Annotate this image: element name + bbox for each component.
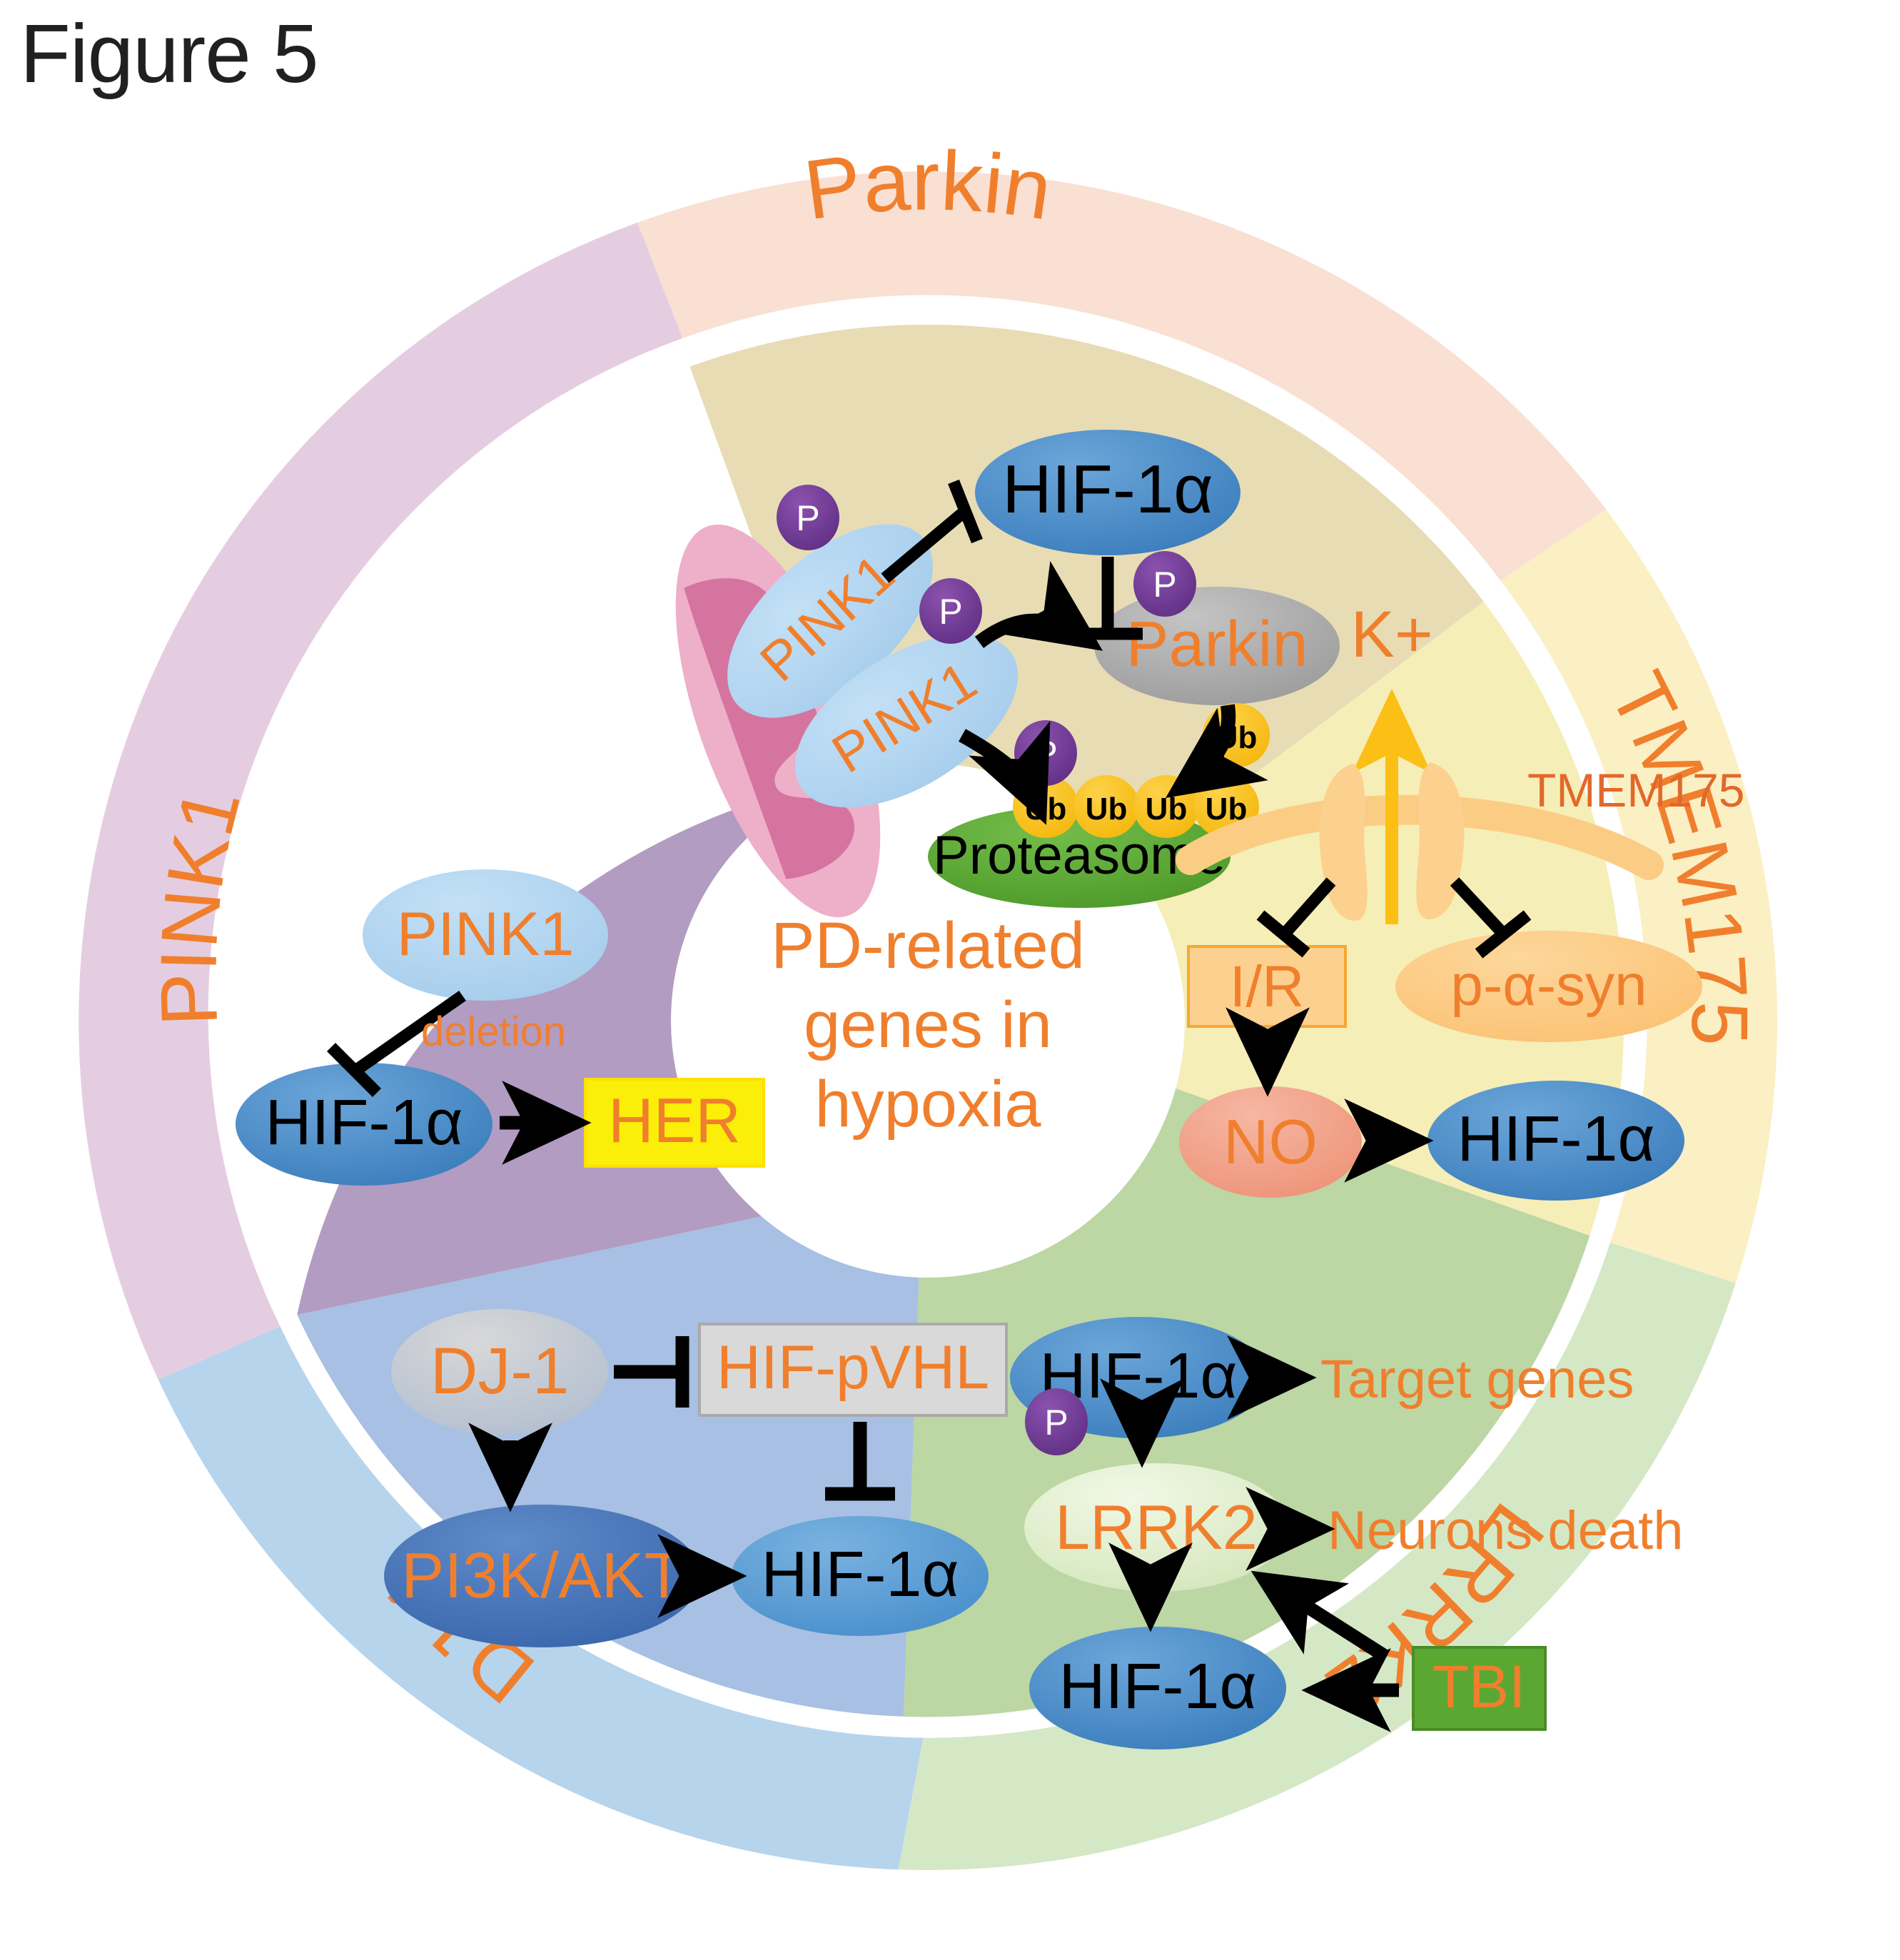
phospho-badge-lrrk2-hif: P — [1025, 1388, 1088, 1455]
vhl-label: HIF-pVHL — [717, 1333, 989, 1402]
dj1-hif-label: HIF-1α — [761, 1539, 959, 1610]
dj1-node[interactable]: DJ-1 — [391, 1309, 608, 1435]
no-node[interactable]: NO — [1179, 1086, 1362, 1198]
svg-text:P: P — [939, 592, 962, 632]
svg-text:P: P — [1034, 734, 1057, 774]
parkin-hif-node[interactable]: HIF-1α — [975, 430, 1240, 555]
tbi-node[interactable]: TBI — [1413, 1647, 1545, 1729]
ub-chain-item-1: Ub — [1073, 775, 1139, 838]
ir-label: I/R — [1230, 954, 1305, 1019]
tbi-label: TBI — [1432, 1653, 1526, 1720]
her-label: HER — [608, 1085, 741, 1156]
lrrk2-hif-bottom-node[interactable]: HIF-1α — [1029, 1627, 1286, 1749]
svg-text:P: P — [1044, 1403, 1068, 1443]
pi3k-label: PI3K/AKT — [401, 1540, 683, 1612]
pink1-panel-node-her[interactable]: HER — [585, 1079, 764, 1166]
tmem175-hif-node[interactable]: HIF-1α — [1427, 1081, 1684, 1201]
k-plus-label: K+ — [1350, 598, 1432, 671]
pink1-panel-pink1-label: PINK1 — [397, 900, 575, 969]
ir-node[interactable]: I/R — [1188, 946, 1345, 1026]
deletion-edge-label: deletion — [421, 1009, 566, 1055]
svg-text:Ub: Ub — [1086, 792, 1128, 827]
center-line-3: hypoxia — [814, 1068, 1041, 1141]
pathway-wheel-diagram: Parkin TMEM175 LRRK2 DJ-1 PINK1 PD-relat… — [43, 93, 1813, 1891]
lrrk2-panel: HIF-1α P Target genes LRRK2 Neurons deat… — [1010, 1317, 1684, 1749]
target-genes-label: Target genes — [1320, 1349, 1634, 1410]
svg-text:Parkin: Parkin — [799, 134, 1057, 238]
vhl-node[interactable]: HIF-pVHL — [699, 1324, 1006, 1415]
parkin-hif-label: HIF-1α — [1002, 451, 1213, 527]
lrrk2-label: LRRK2 — [1055, 1492, 1258, 1562]
dj1-hif-node[interactable]: HIF-1α — [732, 1516, 989, 1636]
neurons-death-label: Neurons death — [1328, 1500, 1684, 1561]
phospho-badge-pink1-top: P — [777, 485, 839, 550]
page-title: Figure 5 — [20, 6, 318, 101]
psyn-label: p-α-syn — [1450, 953, 1647, 1018]
center-line-1: PD-related — [771, 909, 1085, 982]
svg-text:P: P — [1153, 565, 1176, 605]
pink1-panel-node-pink1[interactable]: PINK1 — [363, 869, 608, 1001]
ring-label-parkin: Parkin — [799, 134, 1057, 238]
tmem175-hif-label: HIF-1α — [1457, 1103, 1654, 1175]
svg-text:Ub: Ub — [1146, 792, 1188, 827]
center-label: PD-related genes in hypoxia — [771, 909, 1085, 1141]
dj1-label: DJ-1 — [430, 1335, 569, 1408]
lrrk2-hif-bottom-label: HIF-1α — [1058, 1651, 1256, 1722]
phospho-badge-pink1-bottom: P — [919, 578, 982, 644]
svg-text:P: P — [796, 498, 819, 538]
center-line-2: genes in — [804, 989, 1052, 1061]
lrrk2-node[interactable]: LRRK2 — [1024, 1463, 1288, 1592]
pi3k-node[interactable]: PI3K/AKT — [384, 1505, 701, 1647]
psyn-node[interactable]: p-α-syn — [1395, 931, 1702, 1042]
tmem175-channel-label: TMEM175 — [1527, 764, 1744, 817]
parkin-node[interactable]: Parkin — [1094, 587, 1340, 705]
parkin-node-label: Parkin — [1126, 609, 1308, 680]
no-label: NO — [1223, 1106, 1318, 1177]
pink1-panel-hif-label: HIF-1α — [265, 1087, 463, 1158]
phospho-badge-parkin: P — [1133, 551, 1196, 617]
